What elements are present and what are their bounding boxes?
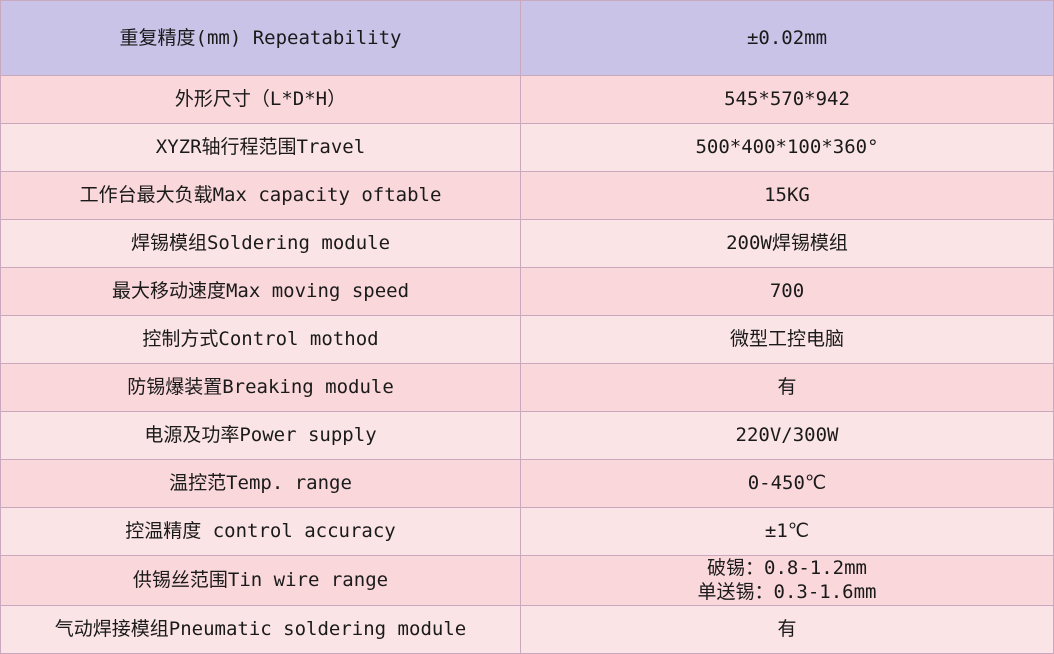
table-row: 焊锡模组Soldering module 200W焊锡模组 xyxy=(1,220,1054,268)
row-parameter-cell: 最大移动速度Max moving speed xyxy=(1,268,521,316)
table-body: 重复精度(mm) Repeatability ±0.02mm 外形尺寸（L*D*… xyxy=(1,1,1054,654)
row-parameter-cell: 工作台最大负载Max capacity oftable xyxy=(1,172,521,220)
row-value-cell: 200W焊锡模组 xyxy=(521,220,1054,268)
table-row: 控制方式Control mothod 微型工控电脑 xyxy=(1,316,1054,364)
row-value-cell: 有 xyxy=(521,364,1054,412)
row-value-cell: 破锡：0.8-1.2mm 单送锡：0.3-1.6mm xyxy=(521,556,1054,606)
row-value-cell: 15KG xyxy=(521,172,1054,220)
table-row: 工作台最大负载Max capacity oftable 15KG xyxy=(1,172,1054,220)
row-parameter-cell: 气动焊接模组Pneumatic soldering module xyxy=(1,605,521,653)
row-value-cell: 微型工控电脑 xyxy=(521,316,1054,364)
row-value-cell: 500*400*100*360° xyxy=(521,124,1054,172)
row-parameter-cell: 控温精度 control accuracy xyxy=(1,508,521,556)
row-value-cell: 220V/300W xyxy=(521,412,1054,460)
header-parameter-cell: 重复精度(mm) Repeatability xyxy=(1,1,521,76)
row-value-cell: ±1℃ xyxy=(521,508,1054,556)
row-parameter-cell: 电源及功率Power supply xyxy=(1,412,521,460)
table-row: 防锡爆装置Breaking module 有 xyxy=(1,364,1054,412)
row-parameter-cell: 控制方式Control mothod xyxy=(1,316,521,364)
row-value-cell: 有 xyxy=(521,605,1054,653)
row-parameter-cell: 外形尺寸（L*D*H） xyxy=(1,76,521,124)
table-row: 电源及功率Power supply 220V/300W xyxy=(1,412,1054,460)
table-row: 气动焊接模组Pneumatic soldering module 有 xyxy=(1,605,1054,653)
table-row: 最大移动速度Max moving speed 700 xyxy=(1,268,1054,316)
table-row: 外形尺寸（L*D*H） 545*570*942 xyxy=(1,76,1054,124)
table-row: XYZR轴行程范围Travel 500*400*100*360° xyxy=(1,124,1054,172)
row-value-cell: 545*570*942 xyxy=(521,76,1054,124)
specifications-table: 重复精度(mm) Repeatability ±0.02mm 外形尺寸（L*D*… xyxy=(0,0,1054,654)
row-value-cell: 700 xyxy=(521,268,1054,316)
table-row: 控温精度 control accuracy ±1℃ xyxy=(1,508,1054,556)
row-parameter-cell: 温控范Temp. range xyxy=(1,460,521,508)
row-parameter-cell: 供锡丝范围Tin wire range xyxy=(1,556,521,606)
row-parameter-cell: XYZR轴行程范围Travel xyxy=(1,124,521,172)
table-row: 供锡丝范围Tin wire range 破锡：0.8-1.2mm 单送锡：0.3… xyxy=(1,556,1054,606)
table-row: 温控范Temp. range 0-450℃ xyxy=(1,460,1054,508)
row-parameter-cell: 防锡爆装置Breaking module xyxy=(1,364,521,412)
row-parameter-cell: 焊锡模组Soldering module xyxy=(1,220,521,268)
header-value-cell: ±0.02mm xyxy=(521,1,1054,76)
table-header-row: 重复精度(mm) Repeatability ±0.02mm xyxy=(1,1,1054,76)
row-value-cell: 0-450℃ xyxy=(521,460,1054,508)
